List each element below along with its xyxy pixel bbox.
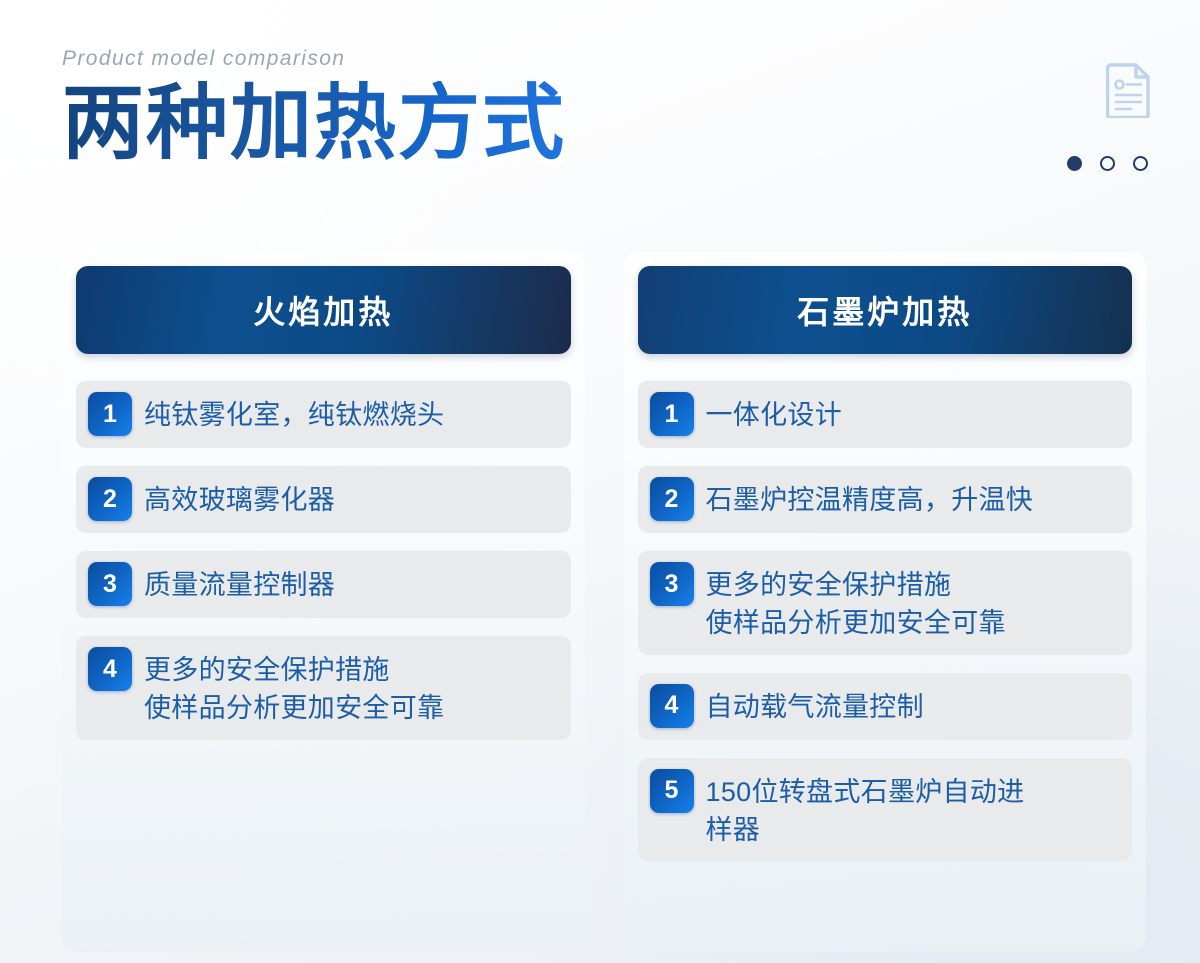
list-item[interactable]: 4 更多的安全保护措施 使样品分析更加安全可靠 — [76, 635, 571, 740]
document-icon — [1106, 62, 1152, 118]
item-number-badge: 3 — [88, 562, 132, 606]
list-item[interactable]: 1 纯钛雾化室，纯钛燃烧头 — [76, 380, 571, 448]
item-label: 更多的安全保护措施 使样品分析更加安全可靠 — [706, 562, 1006, 643]
item-label: 一体化设计 — [706, 392, 843, 434]
item-number-badge: 4 — [88, 647, 132, 691]
item-number-badge: 3 — [650, 562, 694, 606]
column-flame: 火焰加热 1 纯钛雾化室，纯钛燃烧头 2 高效玻璃雾化器 3 质量流量控制器 — [62, 252, 585, 952]
item-number-badge: 1 — [88, 392, 132, 436]
item-label: 自动载气流量控制 — [706, 684, 924, 726]
item-label: 150位转盘式石墨炉自动进 样器 — [706, 769, 1025, 850]
pagination-dot-3[interactable] — [1133, 156, 1148, 171]
pagination-dot-2[interactable] — [1100, 156, 1115, 171]
pagination-dots[interactable] — [1067, 156, 1148, 171]
list-item[interactable]: 3 更多的安全保护措施 使样品分析更加安全可靠 — [638, 550, 1133, 655]
page-title: 两种加热方式 — [62, 81, 566, 167]
column-flame-items: 1 纯钛雾化室，纯钛燃烧头 2 高效玻璃雾化器 3 质量流量控制器 4 — [76, 380, 571, 740]
list-item[interactable]: 3 质量流量控制器 — [76, 550, 571, 618]
item-label-line: 纯钛雾化室，纯钛燃烧头 — [144, 396, 444, 434]
item-label-line: 更多的安全保护措施 — [144, 651, 444, 689]
item-label: 质量流量控制器 — [144, 562, 335, 604]
item-label-line: 150位转盘式石墨炉自动进 — [706, 773, 1025, 811]
item-number-badge: 5 — [650, 769, 694, 813]
item-label: 更多的安全保护措施 使样品分析更加安全可靠 — [144, 647, 444, 728]
item-number-badge: 2 — [88, 477, 132, 521]
column-furnace-items: 1 一体化设计 2 石墨炉控温精度高，升温快 3 更多的安全保护措施 使样品分析… — [638, 380, 1133, 861]
item-label: 石墨炉控温精度高，升温快 — [706, 477, 1034, 519]
list-item[interactable]: 5 150位转盘式石墨炉自动进 样器 — [638, 757, 1133, 862]
item-label-line: 高效玻璃雾化器 — [144, 481, 335, 519]
item-label-line: 一体化设计 — [706, 396, 843, 434]
item-label: 高效玻璃雾化器 — [144, 477, 335, 519]
list-item[interactable]: 2 石墨炉控温精度高，升温快 — [638, 465, 1133, 533]
item-label-line: 更多的安全保护措施 — [706, 566, 1006, 604]
item-number-badge: 4 — [650, 684, 694, 728]
column-furnace: 石墨炉加热 1 一体化设计 2 石墨炉控温精度高，升温快 3 更多的安全保护措施… — [624, 252, 1147, 952]
item-label-line: 使样品分析更加安全可靠 — [144, 689, 444, 727]
list-item[interactable]: 1 一体化设计 — [638, 380, 1133, 448]
list-item[interactable]: 2 高效玻璃雾化器 — [76, 465, 571, 533]
item-label-line: 样器 — [706, 811, 1025, 849]
pagination-dot-1[interactable] — [1067, 156, 1082, 171]
column-furnace-title: 石墨炉加热 — [638, 266, 1133, 354]
item-label-line: 自动载气流量控制 — [706, 688, 924, 726]
page-header: Product model comparison 两种加热方式 — [62, 48, 1142, 198]
comparison-columns: 火焰加热 1 纯钛雾化室，纯钛燃烧头 2 高效玻璃雾化器 3 质量流量控制器 — [62, 252, 1146, 952]
item-label-line: 使样品分析更加安全可靠 — [706, 604, 1006, 642]
item-number-badge: 1 — [650, 392, 694, 436]
eyebrow-label: Product model comparison — [62, 48, 1142, 69]
item-label: 纯钛雾化室，纯钛燃烧头 — [144, 392, 444, 434]
item-number-badge: 2 — [650, 477, 694, 521]
column-flame-title: 火焰加热 — [76, 266, 571, 354]
item-label-line: 石墨炉控温精度高，升温快 — [706, 481, 1034, 519]
list-item[interactable]: 4 自动载气流量控制 — [638, 672, 1133, 740]
item-label-line: 质量流量控制器 — [144, 566, 335, 604]
